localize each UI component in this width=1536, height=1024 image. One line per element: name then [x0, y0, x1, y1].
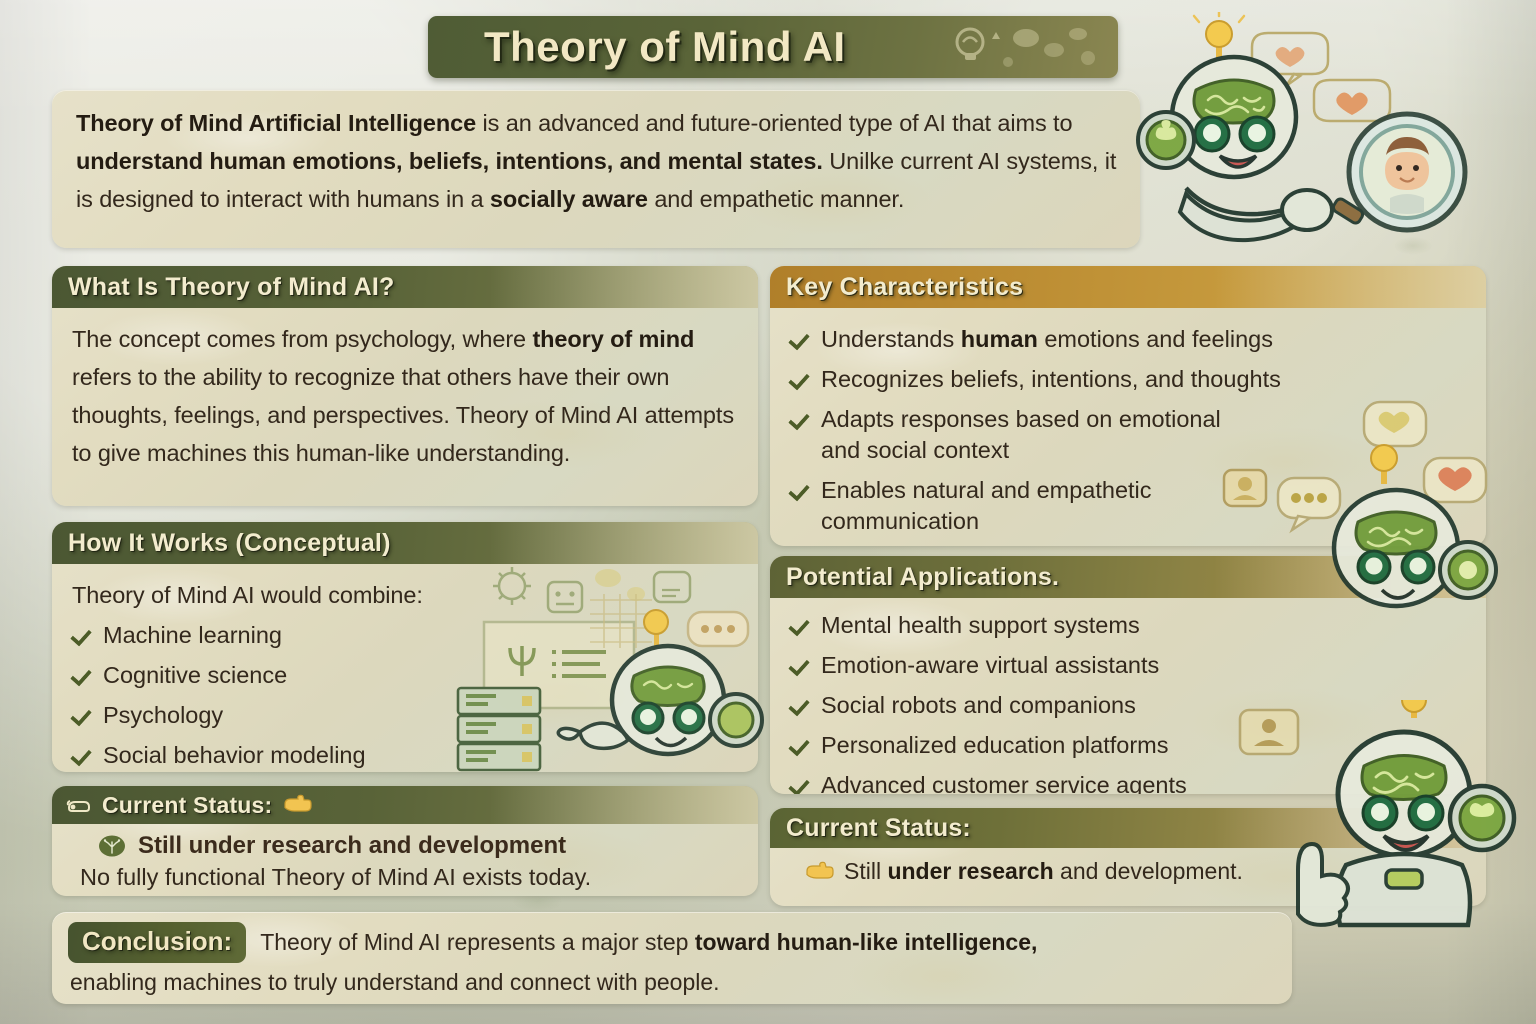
potential-applications-header: Potential Applications. — [770, 556, 1486, 598]
how-it-works-header-label: How It Works (Conceptual) — [68, 529, 391, 558]
list-item: Social behavior modeling — [72, 740, 740, 771]
intro-bold3: socially aware — [490, 186, 648, 212]
list-item: Mental health support systems — [790, 610, 1468, 641]
conclusion-text-line1: Theory of Mind AI represents a major ste… — [260, 928, 1037, 958]
app-item-4: Advanced customer service agents — [821, 770, 1187, 794]
intro-lead: Theory of Mind Artificial Intelligence — [76, 110, 476, 136]
poster-title-banner: Theory of Mind AI — [428, 16, 1118, 78]
list-item: Social robots and companions — [790, 690, 1468, 721]
tag-icon — [66, 796, 92, 814]
current-status-right-header: Current Status: — [770, 808, 1486, 848]
pointing-right-hand-icon — [282, 793, 312, 817]
robot-with-magnifier-illustration — [1124, 12, 1534, 262]
kc-1-a: Recognizes beliefs, intentions, and thou… — [821, 364, 1281, 395]
key-characteristics-card: Key Characteristics Understands human em… — [770, 266, 1486, 546]
conclusion-a: Theory of Mind AI represents a major ste… — [260, 929, 695, 955]
current-status-left-note: No fully functional Theory of Mind AI ex… — [72, 864, 740, 891]
how-it-works-card: How It Works (Conceptual) Theory of Mind… — [52, 522, 758, 772]
list-item: Adapts responses based on emotional and … — [790, 404, 1260, 466]
conclusion-first-line: Conclusion: Theory of Mind AI represents… — [68, 922, 1274, 963]
list-item: Understands human emotions and feelings — [790, 324, 1468, 355]
check-icon — [72, 622, 92, 646]
what-is-card: What Is Theory of Mind AI? The concept c… — [52, 266, 758, 506]
current-status-left-label: Current Status: — [102, 792, 272, 819]
potential-applications-header-label: Potential Applications. — [786, 563, 1059, 592]
list-item: Emotion-aware virtual assistants — [790, 650, 1468, 681]
list-item: Cognitive science — [72, 660, 740, 691]
current-status-right-card: Current Status: Still under research and… — [770, 808, 1486, 906]
check-icon — [790, 652, 810, 676]
key-characteristics-header-label: Key Characteristics — [786, 273, 1023, 302]
check-icon — [790, 732, 810, 756]
app-item-2: Social robots and companions — [821, 690, 1136, 721]
check-icon — [790, 772, 810, 794]
check-icon — [790, 326, 810, 350]
page-title: Theory of Mind AI — [484, 23, 846, 71]
how-item-1: Cognitive science — [103, 660, 287, 691]
conclusion-card: Conclusion: Theory of Mind AI represents… — [52, 912, 1292, 1004]
pointing-right-hand-icon — [804, 860, 834, 884]
conclusion-badge: Conclusion: — [68, 922, 246, 963]
current-status-left-card: Current Status: Still under research and — [52, 786, 758, 896]
intro-card: Theory of Mind Artificial Intelligence i… — [52, 90, 1140, 248]
current-status-left-bold: Still under research and development — [138, 832, 566, 860]
list-item: Psychology — [72, 700, 740, 731]
status-right-b: under research — [887, 858, 1053, 884]
app-item-1: Emotion-aware virtual assistants — [821, 650, 1159, 681]
check-icon — [790, 692, 810, 716]
kc-0-c: emotions and feelings — [1038, 326, 1273, 352]
how-item-3: Social behavior modeling — [103, 740, 366, 771]
check-icon — [790, 612, 810, 636]
check-icon — [790, 366, 810, 390]
intro-rest1: is an advanced and future-oriented type … — [476, 110, 1072, 136]
potential-applications-card: Potential Applications. Mental health su… — [770, 556, 1486, 794]
check-icon — [72, 702, 92, 726]
kc-0-b: human — [961, 326, 1038, 352]
what-is-text-c: refers to the ability to recognize that … — [72, 364, 734, 466]
what-is-paragraph: The concept comes from psychology, where… — [72, 320, 740, 472]
what-is-text-b: theory of mind — [532, 326, 694, 352]
how-item-2: Psychology — [103, 700, 223, 731]
current-status-right-label: Current Status: — [786, 814, 971, 843]
key-characteristics-list: Understands human emotions and feelings … — [790, 324, 1468, 537]
intro-rest3: and empathetic manner. — [648, 186, 904, 212]
kc-3-a: Enables natural and empathetic communica… — [821, 475, 1160, 537]
tree-circle-icon — [98, 834, 126, 858]
conclusion-b: toward human-like intelligence, — [695, 929, 1038, 955]
list-item: Machine learning — [72, 620, 740, 651]
how-it-works-header: How It Works (Conceptual) — [52, 522, 758, 564]
current-status-right-line: Still under research and development. — [790, 858, 1468, 885]
current-status-left-header: Current Status: — [52, 786, 758, 824]
intro-paragraph: Theory of Mind Artificial Intelligence i… — [76, 104, 1120, 218]
kc-0-a: Understands — [821, 326, 961, 352]
check-icon — [790, 477, 810, 501]
potential-applications-list: Mental health support systems Emotion-aw… — [790, 610, 1468, 794]
how-it-works-list: Machine learning Cognitive science Psych… — [72, 620, 740, 771]
what-is-text-a: The concept comes from psychology, where — [72, 326, 532, 352]
what-is-header: What Is Theory of Mind AI? — [52, 266, 758, 308]
list-item: Advanced customer service agents — [790, 770, 1468, 794]
check-icon — [790, 406, 810, 430]
check-icon — [72, 742, 92, 766]
list-item: Recognizes beliefs, intentions, and thou… — [790, 364, 1468, 395]
key-characteristics-header: Key Characteristics — [770, 266, 1486, 308]
intro-bold2: understand human emotions, beliefs, inte… — [76, 148, 823, 174]
how-item-0: Machine learning — [103, 620, 282, 651]
status-right-c: and development. — [1054, 858, 1243, 884]
app-item-0: Mental health support systems — [821, 610, 1140, 641]
title-decoration-icon — [938, 20, 1108, 76]
how-it-works-intro: Theory of Mind AI would combine: — [72, 576, 740, 614]
current-status-left-line1: Still under research and development — [72, 832, 740, 860]
list-item: Enables natural and empathetic communica… — [790, 475, 1160, 537]
status-right-a: Still — [844, 858, 887, 884]
check-icon — [72, 662, 92, 686]
conclusion-text-line2: enabling machines to truly understand an… — [68, 969, 1274, 996]
infographic-poster: Theory of Mind AI Theory of Mind Artific… — [0, 0, 1536, 1024]
app-item-3: Personalized education platforms — [821, 730, 1168, 761]
what-is-header-label: What Is Theory of Mind AI? — [68, 273, 394, 302]
list-item: Personalized education platforms — [790, 730, 1468, 761]
kc-2-a: Adapts responses based on emotional and … — [821, 404, 1260, 466]
